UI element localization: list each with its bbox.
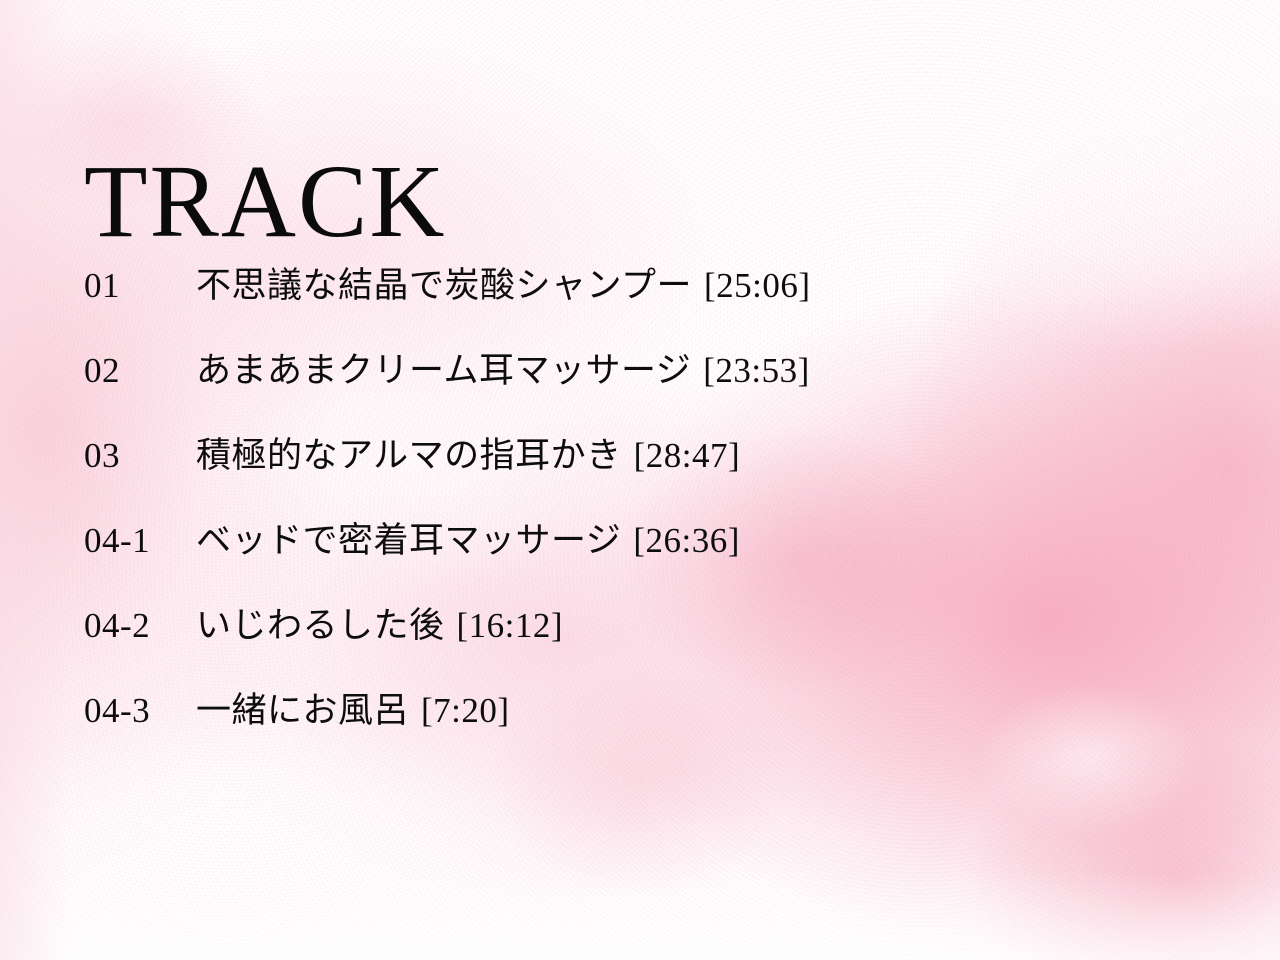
track-number: 02 [84,353,196,388]
track-row[interactable]: 03 積極的なアルマの指耳かき [28:47] [84,438,1204,523]
track-number: 03 [84,438,196,473]
track-number: 04-3 [84,693,196,728]
track-number: 04-1 [84,523,196,558]
page-title: TRACK [84,150,446,254]
track-list: 01 不思議な結晶で炭酸シャンプー [25:06] 02 あまあまクリーム耳マッ… [84,268,1204,778]
track-list-slide: TRACK 01 不思議な結晶で炭酸シャンプー [25:06] 02 あまあまク… [0,0,1280,960]
track-row[interactable]: 04-1 ベッドで密着耳マッサージ [26:36] [84,523,1204,608]
slide-content: TRACK 01 不思議な結晶で炭酸シャンプー [25:06] 02 あまあまク… [0,0,1280,960]
track-duration: [28:47] [634,438,741,473]
track-row[interactable]: 01 不思議な結晶で炭酸シャンプー [25:06] [84,268,1204,353]
track-title: ベッドで密着耳マッサージ [196,524,621,559]
track-number: 01 [84,268,196,303]
track-duration: [23:53] [703,353,810,388]
track-title: いじわるした後 [196,609,445,644]
track-title: 不思議な結晶で炭酸シャンプー [196,269,692,304]
track-title: 積極的なアルマの指耳かき [196,439,622,474]
track-number: 04-2 [84,608,196,643]
track-title: あまあまクリーム耳マッサージ [196,354,691,389]
track-row[interactable]: 02 あまあまクリーム耳マッサージ [23:53] [84,353,1204,438]
track-row[interactable]: 04-3 一緒にお風呂 [7:20] [84,693,1204,778]
track-duration: [25:06] [704,268,811,303]
track-title: 一緒にお風呂 [196,694,409,729]
track-duration: [16:12] [457,608,564,643]
track-duration: [26:36] [633,523,740,558]
track-row[interactable]: 04-2 いじわるした後 [16:12] [84,608,1204,693]
track-duration: [7:20] [421,693,510,728]
